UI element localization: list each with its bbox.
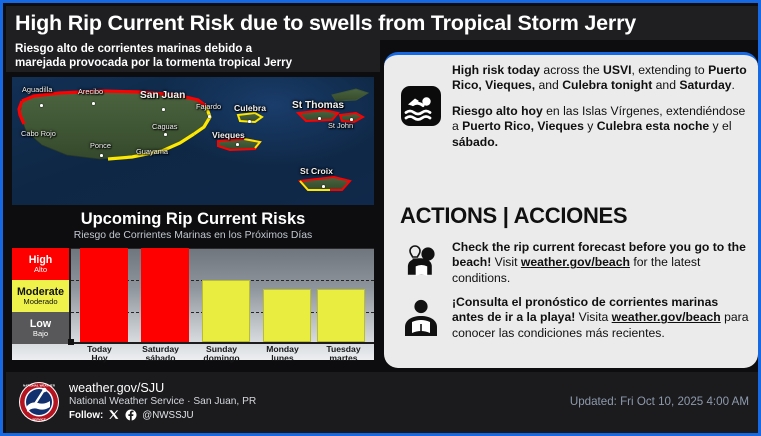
subtitle-line-1: Riesgo alto de corrientes marinas debido…: [15, 42, 252, 55]
action-text-english-block: Check the rip current forecast before yo…: [452, 240, 752, 286]
x-tick-saturday-es: sábado: [130, 354, 191, 363]
map-label-ponce: Ponce: [90, 141, 111, 150]
action-section-english: Check the rip current forecast before yo…: [390, 240, 752, 286]
x-tick-saturday: Saturday sábado: [130, 345, 191, 364]
footer-text-block: weather.gov/SJU National Weather Service…: [69, 381, 256, 421]
x-tick-monday-es: lunes: [252, 354, 313, 363]
reader-icon-glyph: [401, 298, 441, 338]
nws-logo-icon-glyph: NATIONAL WEATHER SERVICE: [18, 381, 60, 423]
footer-bar: NATIONAL WEATHER SERVICE weather.gov/SJU…: [6, 372, 761, 433]
x-tick-monday: Monday lunes: [252, 345, 313, 364]
map-graphic: [12, 77, 374, 205]
footer-office: National Weather Service · San Juan, PR: [69, 396, 256, 407]
weather-gov-beach-link[interactable]: weather.gov/beach: [612, 310, 721, 324]
puerto-rico-landmass: [20, 91, 210, 159]
alert-text-english: High risk today across the USVI, extendi…: [452, 63, 752, 94]
map-label-aguadilla: Aguadilla: [22, 85, 52, 94]
map-label-vieques: Vieques: [212, 130, 245, 140]
svg-text:SERVICE: SERVICE: [32, 418, 46, 422]
left-column: Aguadilla Arecibo San Juan Fajardo Culeb…: [6, 72, 380, 372]
legend-high-label: High: [29, 255, 53, 266]
rip-current-risk-chart: High Alto Moderate Moderado Low Bajo: [12, 248, 374, 360]
legend-item-low: Low Bajo: [12, 312, 69, 344]
bar-sunday: [202, 280, 250, 342]
map-label-caguas: Caguas: [152, 122, 177, 131]
x-tick-today: Today Hoy: [69, 345, 130, 364]
x-tick-today-es: Hoy: [69, 354, 130, 363]
swimmer-icon: [390, 63, 452, 150]
city-dot-st-thomas: [318, 117, 321, 120]
city-dot-fajardo: [208, 115, 211, 118]
map-label-san-juan: San Juan: [140, 90, 185, 101]
map-label-guayama: Guayama: [136, 147, 168, 156]
chart-plot-area: [69, 248, 374, 344]
city-dot-arecibo: [92, 102, 95, 105]
updated-timestamp: Updated: Fri Oct 10, 2025 4:00 AM: [570, 395, 749, 408]
legend-low-label-es: Bajo: [33, 330, 48, 338]
chart-title: Upcoming Rip Current Risks: [6, 210, 380, 229]
subtitle-line-2: marejada provocada por la tormenta tropi…: [15, 56, 292, 69]
action-section-spanish: ¡Consulta el pronóstico de corrientes ma…: [390, 295, 752, 341]
bar-saturday: [141, 248, 189, 342]
puerto-rico-risk-map: Aguadilla Arecibo San Juan Fajardo Culeb…: [12, 77, 374, 205]
lightbulb-reader-icon: [390, 240, 452, 286]
alert-text-spanish: Riesgo alto hoy en las Islas Vírgenes, e…: [452, 104, 752, 150]
action-text-spanish-block: ¡Consulta el pronóstico de corrientes ma…: [452, 295, 752, 341]
information-panel: High risk today across the USVI, extendi…: [384, 52, 758, 368]
x-twitter-icon[interactable]: [108, 409, 120, 421]
city-dot-st-croix: [322, 185, 325, 188]
action-text-english: Check the rip current forecast before yo…: [452, 240, 752, 286]
bar-monday: [263, 289, 311, 342]
lightbulb-reader-icon-glyph: [401, 242, 441, 284]
city-dot-vieques: [236, 143, 239, 146]
bar-tuesday: [317, 289, 365, 342]
x-tick-tuesday-es: martes: [313, 354, 374, 363]
svg-text:NATIONAL WEATHER: NATIONAL WEATHER: [23, 384, 56, 388]
x-tick-tuesday: Tuesday martes: [313, 345, 374, 364]
legend-item-high: High Alto: [12, 248, 69, 280]
risk-legend: High Alto Moderate Moderado Low Bajo: [12, 248, 69, 344]
map-label-st-thomas: St Thomas: [292, 100, 344, 111]
map-label-cabo-rojo: Cabo Rojo: [21, 129, 56, 138]
subtitle-spanish: Riesgo alto de corrientes marinas debido…: [15, 42, 374, 70]
weather-alert-graphic: High Rip Current Risk due to swells from…: [0, 0, 761, 436]
chart-subtitle: Riesgo de Corrientes Marinas en los Próx…: [6, 230, 380, 241]
footer-handle[interactable]: @NWSSJU: [142, 410, 193, 421]
map-label-st-john: St John: [328, 121, 353, 130]
chart-x-tick-labels: Today Hoy Saturday sábado Sunday domingo…: [69, 345, 374, 364]
city-dot-culebra: [248, 120, 251, 123]
swimmer-icon-glyph: [399, 84, 443, 128]
chart-header: Upcoming Rip Current Risks Riesgo de Cor…: [6, 210, 380, 241]
legend-moderate-label-es: Moderado: [23, 298, 57, 306]
map-label-culebra: Culebra: [234, 103, 266, 113]
alert-text-block: High risk today across the USVI, extendi…: [452, 63, 752, 150]
city-dot-ponce: [100, 154, 103, 157]
map-label-arecibo: Arecibo: [78, 87, 103, 96]
page-title: High Rip Current Risk due to swells from…: [6, 11, 636, 36]
legend-low-label: Low: [30, 319, 51, 330]
reader-icon: [390, 295, 452, 341]
city-dot-caguas: [164, 133, 167, 136]
weather-gov-beach-link[interactable]: weather.gov/beach: [521, 255, 630, 269]
nws-logo-icon: NATIONAL WEATHER SERVICE: [18, 381, 60, 423]
legend-item-moderate: Moderate Moderado: [12, 280, 69, 312]
action-text-spanish: ¡Consulta el pronóstico de corrientes ma…: [452, 295, 752, 341]
facebook-icon[interactable]: [125, 409, 137, 421]
legend-moderate-label: Moderate: [17, 287, 64, 298]
x-tick-sunday-es: domingo: [191, 354, 252, 363]
subtitle-box: Riesgo alto de corrientes marinas debido…: [6, 40, 380, 72]
footer-website[interactable]: weather.gov/SJU: [69, 381, 256, 395]
city-dot-san-juan: [162, 108, 165, 111]
city-dot-aguadilla: [40, 104, 43, 107]
actions-heading: ACTIONS | ACCIONES: [400, 203, 627, 229]
map-label-fajardo: Fajardo: [196, 102, 221, 111]
bar-today: [80, 248, 128, 342]
footer-follow-row: Follow: @NWSSJU: [69, 409, 256, 421]
title-bar: High Rip Current Risk due to swells from…: [6, 6, 761, 40]
footer-follow-label: Follow:: [69, 410, 103, 421]
map-label-st-croix: St Croix: [300, 166, 333, 176]
chart-y-axis: [69, 248, 71, 344]
alert-section: High risk today across the USVI, extendi…: [390, 63, 752, 150]
legend-high-label-es: Alto: [34, 266, 47, 274]
x-tick-sunday: Sunday domingo: [191, 345, 252, 364]
